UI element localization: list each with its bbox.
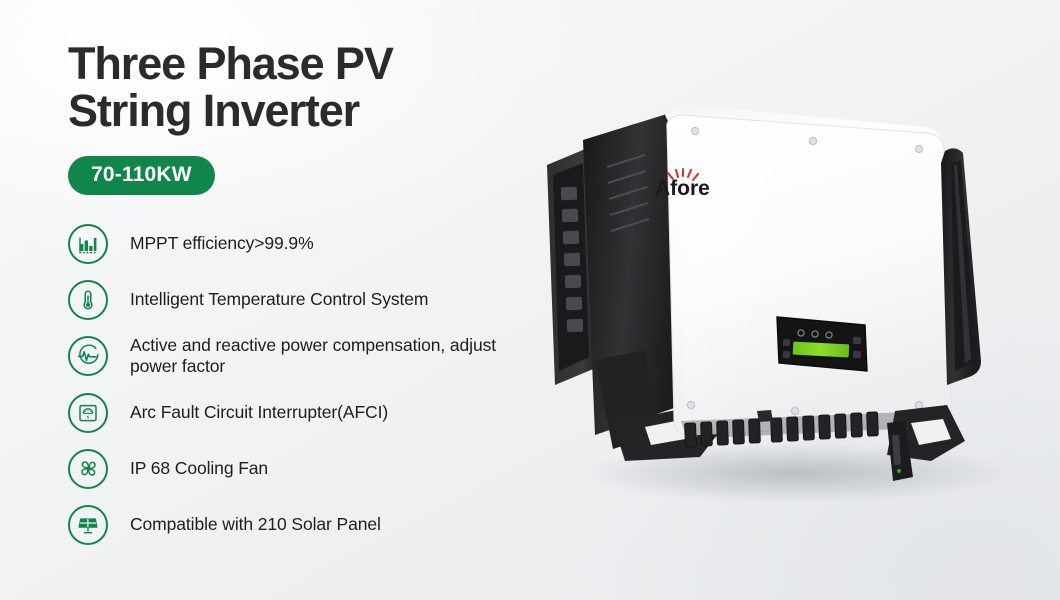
- feature-item-afci: Arc Fault Circuit Interrupter(AFCI): [68, 392, 538, 433]
- feature-label: Arc Fault Circuit Interrupter(AFCI): [130, 402, 388, 423]
- side-panel-right: [941, 148, 981, 385]
- thermometer-icon: [68, 280, 108, 320]
- page-title: Three Phase PV String Inverter: [68, 40, 538, 134]
- solar-panel-icon: [68, 505, 108, 545]
- bar-chart-icon: [68, 224, 108, 264]
- headline-line-1: Three Phase PV: [68, 40, 538, 87]
- waveform-icon: [68, 336, 108, 376]
- gauge-bolt-icon: [68, 393, 108, 433]
- marketing-copy-panel: Three Phase PV String Inverter 70-110KW …: [68, 40, 538, 560]
- feature-label: Compatible with 210 Solar Panel: [130, 514, 381, 535]
- feature-list: MPPT efficiency>99.9% Intelligent Temper…: [68, 223, 538, 545]
- feature-item-solar-panel: Compatible with 210 Solar Panel: [68, 504, 538, 545]
- feature-item-mppt-efficiency: MPPT efficiency>99.9%: [68, 223, 538, 264]
- feature-label: Active and reactive power compensation, …: [130, 335, 530, 377]
- feature-item-power-compensation: Active and reactive power compensation, …: [68, 335, 538, 377]
- feature-label: MPPT efficiency>99.9%: [130, 233, 314, 254]
- lcd-control-panel[interactable]: [777, 317, 867, 371]
- feature-item-cooling-fan: IP 68 Cooling Fan: [68, 448, 538, 489]
- inverter-casing: Afore: [655, 105, 951, 435]
- product-image-inverter: Afore: [495, 105, 1055, 525]
- fan-icon: [68, 449, 108, 489]
- power-rating-badge: 70-110KW: [68, 156, 215, 195]
- headline-line-2: String Inverter: [68, 87, 538, 134]
- feature-label: IP 68 Cooling Fan: [130, 458, 268, 479]
- feature-label: Intelligent Temperature Control System: [130, 289, 428, 310]
- brand-name: Afore: [655, 177, 710, 200]
- feature-item-temperature-control: Intelligent Temperature Control System: [68, 279, 538, 320]
